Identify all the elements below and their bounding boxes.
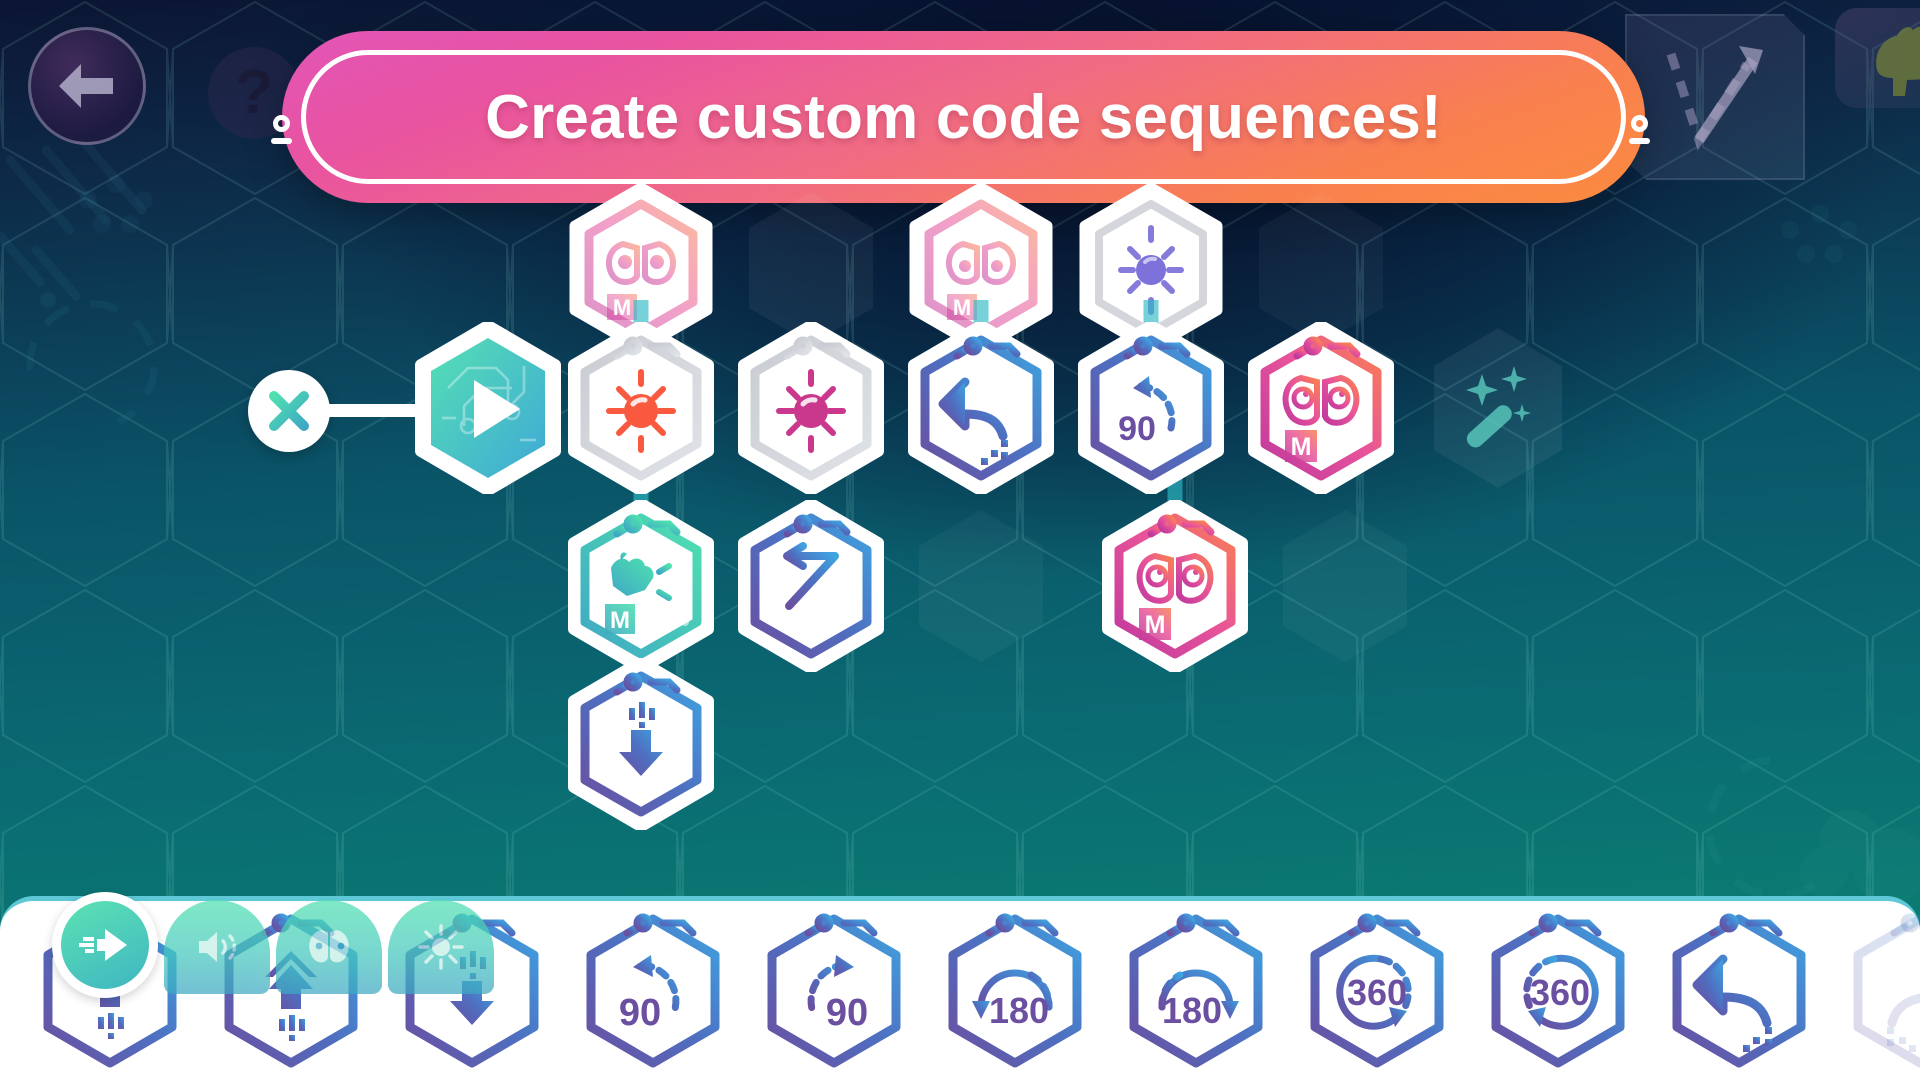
palette-item-turn-left-180[interactable]: 180 Turn Left 180 (927, 903, 1103, 1079)
magic-wand-slot[interactable] (1422, 322, 1574, 494)
palette-item-label: Turn Around (1827, 903, 1828, 904)
sequence-slot-empty[interactable] (905, 500, 1057, 672)
banner-pin-right (1631, 115, 1650, 144)
palette-item-value: 360 (1530, 972, 1590, 1013)
palette-item-turn-right-90[interactable]: 90 Turn Right 90 (746, 903, 922, 1079)
palette-item-label: Turn Left 180 (1103, 903, 1104, 904)
palette-item-turn-left-90[interactable]: 90 Turn Left 90 (565, 903, 741, 1079)
sequence-block-play[interactable]: Play (412, 322, 564, 494)
sequence-block-turn-90[interactable]: 90 (1075, 322, 1227, 494)
category-tab-movement[interactable]: Movement (52, 892, 158, 998)
palette-item-label: Turn Right 90 (922, 903, 923, 904)
turn-around-left-icon (1697, 959, 1772, 1052)
palette-item-label: Turn Left 90 (741, 903, 742, 904)
sequence-block-light[interactable] (565, 322, 717, 494)
palette-item-spin-right-360[interactable]: 360 Spin Right 360 (1289, 903, 1465, 1079)
sequence-block-light[interactable] (735, 322, 887, 494)
palette-item-value: 180 (989, 990, 1049, 1031)
speaker-icon (193, 925, 241, 969)
sun-icon (417, 923, 465, 971)
banner-title: Create custom code sequences! (485, 82, 1442, 153)
eyes-icon (303, 926, 355, 968)
arrow-right-icon (79, 923, 131, 967)
category-tabs[interactable]: Movement Sound Eyes (52, 892, 494, 994)
sequence-block-eyes[interactable]: M (1099, 500, 1251, 672)
turn-around-right-icon (1887, 959, 1920, 1052)
sequence-block-sound[interactable]: M (565, 500, 717, 672)
sequence-slot-empty[interactable] (1269, 500, 1421, 672)
palette-item-value: 90 (619, 992, 661, 1034)
category-tab-eyes[interactable]: Eyes (276, 900, 382, 994)
palette-item-value: 90 (826, 992, 868, 1034)
palette-item-label: Turn Right 180 (1284, 903, 1285, 904)
turn-degree-label: 90 (1118, 410, 1156, 448)
palette-item-label: Spin Left 360 (1646, 903, 1647, 904)
sequence-block-turn-around[interactable] (905, 322, 1057, 494)
sequence-block-eyes[interactable]: M (1245, 322, 1397, 494)
category-tab-light[interactable]: Light (388, 900, 494, 994)
sequence-block-zigzag[interactable] (735, 500, 887, 672)
palette-item-value: 180 (1162, 990, 1222, 1031)
block-badge: M (1291, 433, 1312, 461)
palette-item-label: Spin Right 360 (1465, 903, 1466, 904)
palette-item-turn-around-right[interactable]: Turn Around Right (1832, 903, 1920, 1079)
palette-item-turn-right-180[interactable]: 180 Turn Right 180 (1108, 903, 1284, 1079)
palette-item-label: Backward (560, 903, 561, 904)
palette-item-value: 360 (1347, 972, 1407, 1013)
block-badge: M (610, 607, 630, 634)
editor-stage: Back ? Path Dog Create custom code seque… (0, 0, 1920, 1080)
palette-item-spin-left-360[interactable]: 360 Spin Left 360 (1470, 903, 1646, 1079)
banner-pin-left (273, 115, 292, 144)
palette-item-turn-around[interactable]: Turn Around (1651, 903, 1827, 1079)
block-badge: M (1145, 611, 1166, 639)
category-tab-sound[interactable]: Sound (164, 900, 270, 994)
sequence-block-backward[interactable] (565, 658, 717, 830)
